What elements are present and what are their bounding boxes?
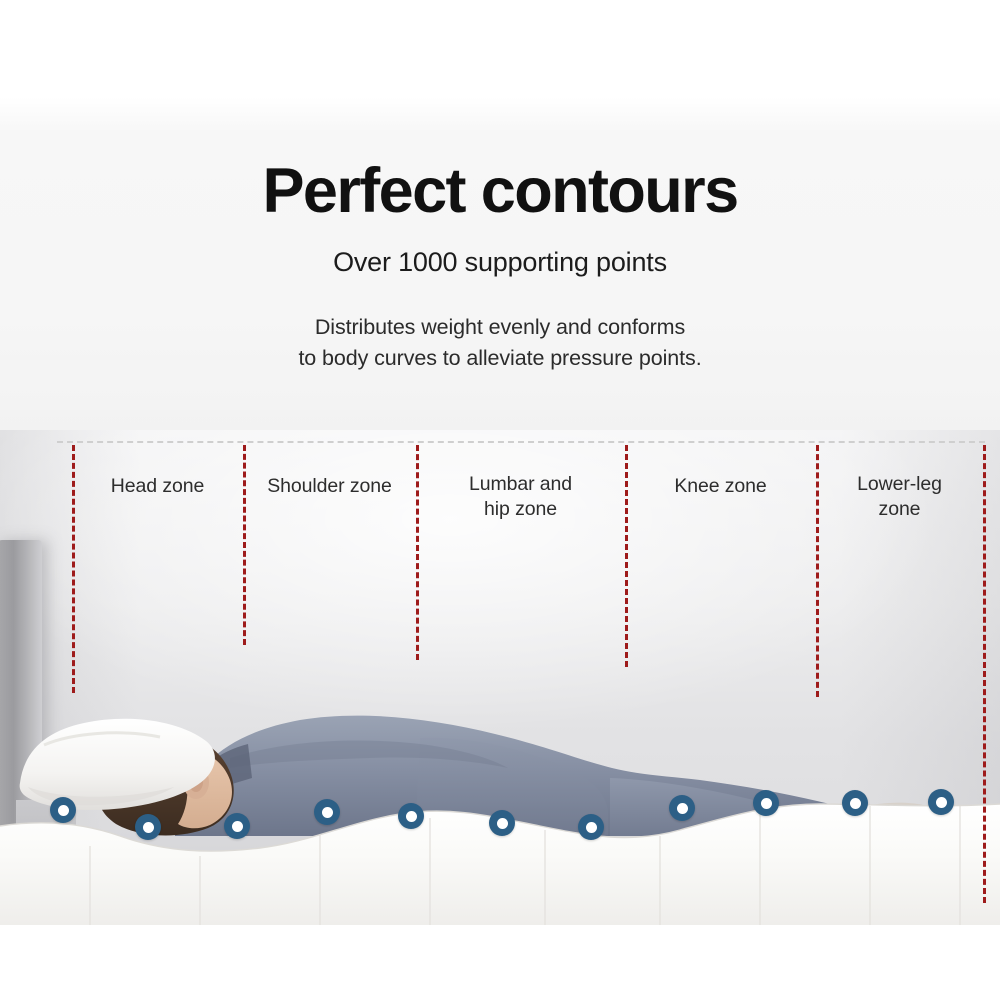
background-bottom bbox=[0, 925, 1000, 1000]
product-photo bbox=[0, 430, 1000, 925]
support-point-marker bbox=[224, 813, 250, 839]
headline-block: Perfect contours Over 1000 supporting po… bbox=[0, 160, 1000, 373]
support-point-marker bbox=[398, 803, 424, 829]
product-feature-graphic: Perfect contours Over 1000 supporting po… bbox=[0, 0, 1000, 1000]
support-point-marker bbox=[669, 795, 695, 821]
support-point-marker bbox=[135, 814, 161, 840]
page-subtitle: Over 1000 supporting points bbox=[0, 249, 1000, 276]
support-point-marker bbox=[928, 789, 954, 815]
mattress bbox=[0, 760, 1000, 925]
description-line-2: to body curves to alleviate pressure poi… bbox=[0, 343, 1000, 374]
support-point-marker bbox=[50, 797, 76, 823]
description-line-1: Distributes weight evenly and conforms bbox=[0, 312, 1000, 343]
support-point-marker bbox=[314, 799, 340, 825]
support-point-marker bbox=[578, 814, 604, 840]
support-point-marker bbox=[489, 810, 515, 836]
support-point-marker bbox=[842, 790, 868, 816]
page-title: Perfect contours bbox=[0, 160, 1000, 223]
support-point-marker bbox=[753, 790, 779, 816]
description-text: Distributes weight evenly and conforms t… bbox=[0, 312, 1000, 373]
